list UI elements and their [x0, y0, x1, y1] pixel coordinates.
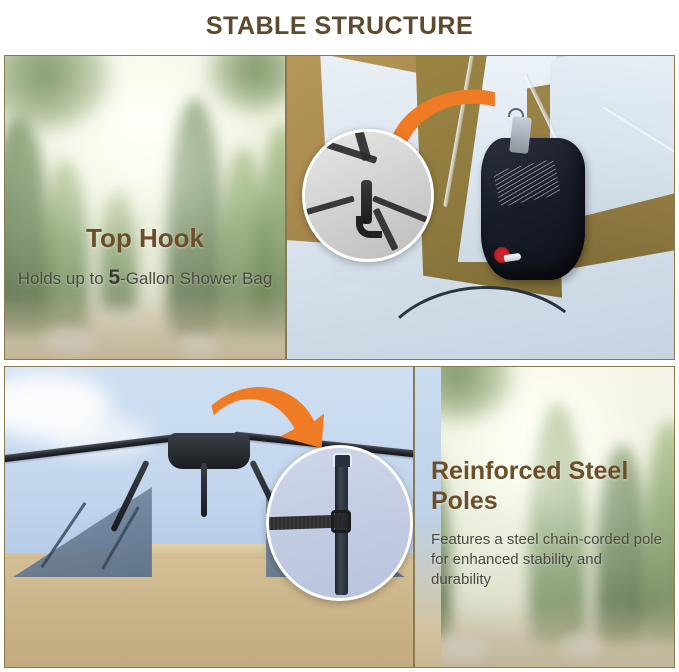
tent-interior-photo: [287, 56, 674, 359]
steel-poles-heading: Reinforced Steel Poles: [431, 457, 666, 516]
top-hook-text-panel: Top Hook Holds up to 5-Gallon Shower Bag: [4, 55, 286, 360]
header: STABLE STRUCTURE: [0, 0, 679, 52]
steel-poles-text-block: Reinforced Steel Poles Features a steel …: [431, 457, 666, 590]
top-hook-subtext: Holds up to 5-Gallon Shower Bag: [13, 265, 277, 290]
top-hook-heading: Top Hook: [13, 224, 277, 253]
subtext-after: -Gallon Shower Bag: [120, 269, 272, 288]
subtext-highlight: 5: [108, 266, 120, 289]
forest-background: [5, 56, 285, 359]
strap-buckle: [331, 510, 351, 533]
atmospheric-haze: [5, 56, 285, 359]
pole-leg: [201, 463, 207, 517]
infographic-page: STABLE STRUCTURE Top Hook Holds up to 5-…: [0, 0, 679, 672]
page-title: STABLE STRUCTURE: [206, 12, 473, 41]
steel-poles-body: Features a steel chain-corded pole for e…: [431, 530, 666, 590]
tent-interior-photo-panel: [286, 55, 675, 360]
hook-closeup-inset: [302, 129, 434, 262]
steel-pole-tip: [333, 453, 352, 467]
pole-strap-closeup-inset: [266, 445, 413, 601]
subtext-before: Holds up to: [18, 269, 109, 288]
tent-roof-photo: [5, 367, 413, 667]
tent-roof-photo-panel: [4, 366, 414, 668]
reinforced-steel-poles-text-panel: Reinforced Steel Poles Features a steel …: [414, 366, 675, 668]
top-hook-text-block: Top Hook Holds up to 5-Gallon Shower Bag: [5, 224, 285, 290]
